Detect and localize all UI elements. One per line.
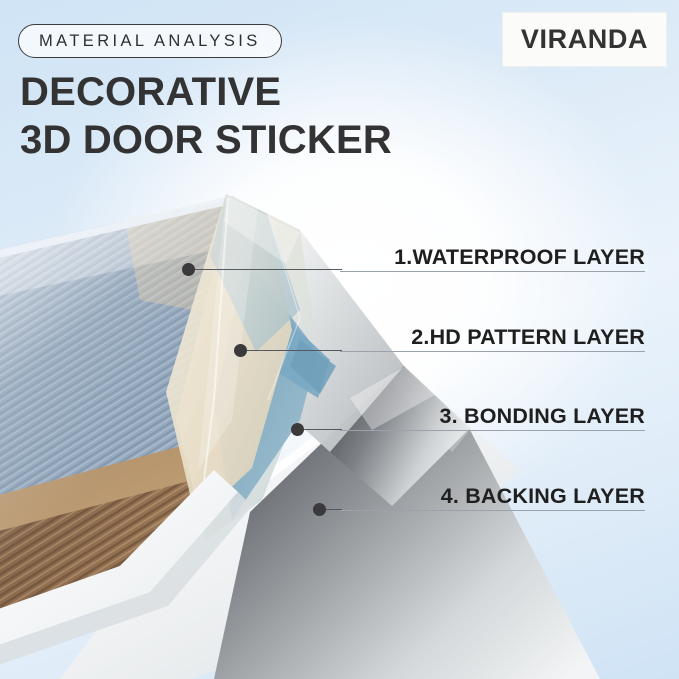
callout-rule-4: [340, 510, 645, 511]
leader-dot-2: [234, 344, 247, 357]
leader-line-1: [190, 269, 342, 270]
callout-layer-4: 4. BACKING LAYER: [340, 477, 645, 511]
leader-line-2: [242, 350, 342, 351]
title-line-1: DECORATIVE: [20, 68, 392, 116]
callout-layer-2: 2.HD PATTERN LAYER: [340, 318, 645, 352]
callout-rule-3: [340, 430, 645, 431]
leader-dot-1: [182, 263, 195, 276]
callout-layer-1: 1.WATERPROOF LAYER: [340, 238, 645, 272]
brand-logo-box: VIRANDA: [503, 13, 666, 66]
title-line-2: 3D DOOR STICKER: [20, 116, 392, 164]
badge-label: MATERIAL ANALYSIS: [39, 32, 261, 51]
page-title: DECORATIVE 3D DOOR STICKER: [20, 68, 392, 164]
callout-rule-2: [340, 351, 645, 352]
callout-label-2: 2.HD PATTERN LAYER: [411, 325, 645, 352]
callout-layer-3: 3. BONDING LAYER: [340, 397, 645, 431]
brand-name: VIRANDA: [521, 24, 648, 55]
callout-label-4: 4. BACKING LAYER: [441, 484, 645, 511]
leader-line-3: [299, 429, 342, 430]
callout-rule-1: [340, 271, 645, 272]
callout-label-3: 3. BONDING LAYER: [440, 404, 646, 431]
leader-dot-4: [313, 503, 326, 516]
callout-label-1: 1.WATERPROOF LAYER: [394, 245, 645, 272]
poster-canvas: MATERIAL ANALYSIS DECORATIVE 3D DOOR STI…: [0, 0, 679, 679]
material-analysis-badge: MATERIAL ANALYSIS: [18, 24, 282, 58]
leader-dot-3: [291, 423, 304, 436]
